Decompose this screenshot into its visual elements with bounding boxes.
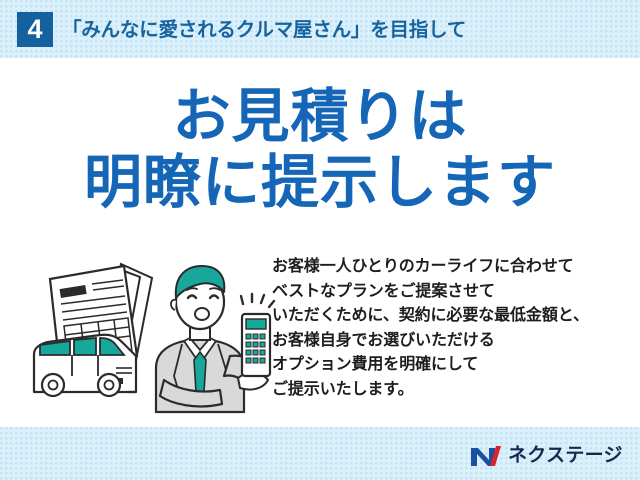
- page-title: 「みんなに愛されるクルマ屋さん」を目指して: [62, 14, 466, 46]
- brand-wordmark: ネクステージ: [508, 444, 623, 468]
- body-copy-line-5: オプション費用を明確にして: [272, 353, 632, 378]
- step-number-badge: 4: [17, 12, 53, 47]
- body-copy-line-3: いただくために、契約に必要な最低金額と、: [272, 304, 632, 329]
- body-copy-line-1: お客様一人ひとりのカーライフに合わせて: [272, 255, 632, 280]
- body-copy: お客様一人ひとりのカーライフに合わせて ベストなプランをご提案させて いただくた…: [272, 255, 632, 402]
- headline-line-1: お見積りは: [0, 84, 640, 150]
- body-copy-line-4: お客様自身でお選びいただける: [272, 329, 632, 354]
- calculator-icon: [241, 294, 274, 376]
- body-copy-line-6: ご提示いたします。: [272, 378, 632, 403]
- promo-slide: 4 「みんなに愛されるクルマ屋さん」を目指して お見積りは 明瞭に提示します お…: [0, 0, 640, 480]
- van-icon: [34, 335, 136, 396]
- headline: お見積りは 明瞭に提示します: [0, 84, 640, 216]
- illustration-salesman-estimate-car: [24, 252, 276, 428]
- nextage-n-mark-icon: [470, 444, 501, 468]
- headline-line-2: 明瞭に提示します: [0, 150, 640, 216]
- body-copy-line-2: ベストなプランをご提案させて: [272, 280, 632, 305]
- brand-logo: ネクステージ: [470, 443, 623, 469]
